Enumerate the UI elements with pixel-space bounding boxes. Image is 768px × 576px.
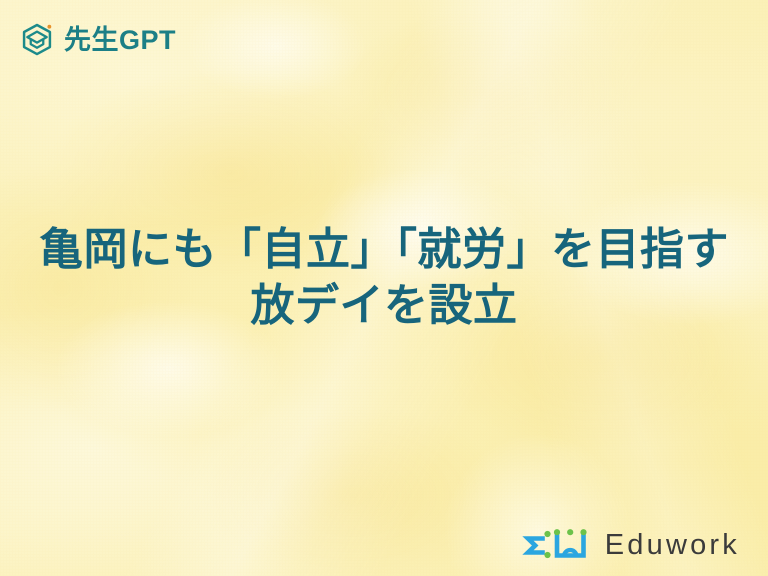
title-line-1: 亀岡にも「自立」「就労」を目指す xyxy=(24,222,744,278)
graduation-cap-hexagon-icon xyxy=(18,21,56,59)
slide-canvas: 先生GPT 亀岡にも「自立」「就労」を目指す 放デイを設立 Eduwork xyxy=(0,0,768,576)
eduwork-wordmark: Eduwork xyxy=(605,531,740,560)
brand-lockup: 先生GPT xyxy=(18,21,176,59)
eduwork-logo-lockup: Eduwork xyxy=(520,527,740,564)
brand-name: 先生GPT xyxy=(64,27,176,54)
slide-title: 亀岡にも「自立」「就労」を目指す 放デイを設立 xyxy=(0,222,768,335)
title-line-2: 放デイを設立 xyxy=(24,278,744,334)
eduwork-mark-icon xyxy=(520,527,592,564)
